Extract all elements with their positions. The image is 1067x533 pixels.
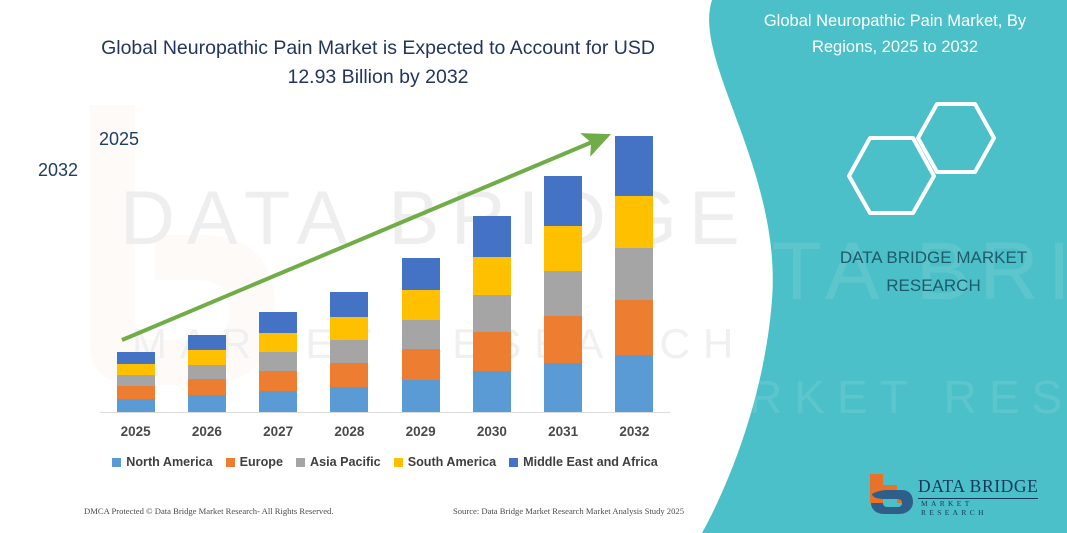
hexagon-label-start: 2025 (99, 129, 139, 150)
bar-segment (259, 333, 297, 352)
bar-column (599, 100, 670, 412)
bar-segment (615, 300, 653, 355)
stacked-bar (330, 292, 368, 412)
bar-segment (117, 375, 155, 386)
panel-subtitle: DATA BRIDGE MARKET RESEARCH (800, 244, 1067, 300)
x-axis-label: 2026 (171, 424, 242, 439)
bar-segment (473, 295, 511, 332)
bar-segment (117, 352, 155, 364)
bar-segment (188, 379, 226, 395)
bar-segment (473, 257, 511, 295)
x-axis-labels: 20252026202720282029203020312032 (100, 424, 670, 444)
x-axis-label: 2029 (385, 424, 456, 439)
bar-segment (188, 350, 226, 365)
legend-swatch (226, 458, 235, 467)
legend-label: South America (408, 455, 496, 469)
legend-swatch (112, 458, 121, 467)
x-axis-label: 2025 (100, 424, 171, 439)
bar-segment (188, 335, 226, 350)
x-axis-label: 2027 (243, 424, 314, 439)
bar-segment (259, 352, 297, 371)
bar-segment (544, 226, 582, 271)
brand-logo: DATA BRIDGE MARKET RESEARCH (866, 472, 1041, 518)
bar-segment (402, 320, 440, 349)
legend-label: Asia Pacific (310, 455, 381, 469)
legend-item: South America (394, 455, 496, 469)
logo-subtitle: MARKET RESEARCH (921, 499, 1041, 517)
legend-item: North America (112, 455, 212, 469)
footer-copyright: DMCA Protected © Data Bridge Market Rese… (84, 506, 334, 516)
stacked-bar (544, 176, 582, 412)
bar-segment (259, 312, 297, 333)
bar-segment (188, 365, 226, 379)
chart-legend: North AmericaEuropeAsia PacificSouth Ame… (100, 455, 670, 469)
bar-segment (330, 363, 368, 387)
logo-title: DATA BRIDGE (918, 476, 1038, 499)
bar-segment (544, 316, 582, 363)
panel-heading: Global Neuropathic Pain Market, By Regio… (735, 8, 1055, 60)
x-axis-label: 2032 (599, 424, 670, 439)
legend-item: Middle East and Africa (509, 455, 658, 469)
bar-segment (188, 395, 226, 412)
bar-segment (544, 176, 582, 226)
bar-column (385, 100, 456, 412)
bar-segment (615, 355, 653, 412)
bar-segment (402, 290, 440, 320)
footer: DMCA Protected © Data Bridge Market Rese… (84, 506, 684, 516)
bar-segment (544, 363, 582, 412)
chart-baseline-axis (100, 412, 670, 413)
bar-segment (615, 248, 653, 300)
stacked-bar (615, 136, 653, 412)
bar-segment (402, 349, 440, 380)
stacked-bar (259, 312, 297, 412)
legend-swatch (394, 458, 403, 467)
legend-item: Europe (226, 455, 283, 469)
stacked-bar (188, 335, 226, 412)
bar-segment (330, 387, 368, 412)
bar-segment (615, 136, 653, 196)
bar-segment (117, 386, 155, 399)
hexagon-badges (820, 96, 1040, 216)
bar-segment (402, 380, 440, 412)
legend-swatch (509, 458, 518, 467)
bar-columns (100, 100, 670, 412)
x-axis-label: 2030 (456, 424, 527, 439)
x-axis-label: 2031 (528, 424, 599, 439)
hexagon-outline-icons (820, 96, 1040, 216)
bar-segment (259, 371, 297, 391)
bar-segment (615, 196, 653, 248)
bar-chart: 20252026202720282029203020312032 North A… (0, 0, 700, 533)
hexagon-2032-shape (849, 138, 934, 213)
bar-column (528, 100, 599, 412)
bar-segment (259, 391, 297, 412)
bar-segment (473, 216, 511, 257)
legend-label: Middle East and Africa (523, 455, 658, 469)
bar-segment (117, 364, 155, 375)
legend-swatch (296, 458, 305, 467)
stacked-bar (117, 352, 155, 412)
bar-segment (473, 371, 511, 412)
infographic-root: DATA BRIDGE MARKET RESEARCH Global Neuro… (0, 0, 1067, 533)
bar-column (314, 100, 385, 412)
bar-column (171, 100, 242, 412)
bar-segment (402, 258, 440, 290)
bar-segment (473, 332, 511, 371)
bar-segment (330, 317, 368, 340)
hexagon-2025-shape (918, 104, 994, 172)
bar-column (243, 100, 314, 412)
bar-segment (330, 292, 368, 317)
hexagon-label-end: 2032 (38, 160, 78, 181)
bar-segment (117, 399, 155, 412)
bar-segment (544, 271, 582, 316)
legend-label: North America (126, 455, 212, 469)
footer-source: Source: Data Bridge Market Research Mark… (453, 506, 684, 516)
bar-column (456, 100, 527, 412)
stacked-bar (473, 216, 511, 412)
legend-item: Asia Pacific (296, 455, 381, 469)
stacked-bar (402, 258, 440, 412)
x-axis-label: 2028 (314, 424, 385, 439)
bar-segment (330, 340, 368, 363)
legend-label: Europe (240, 455, 283, 469)
brand-b-mark-icon (866, 472, 914, 516)
